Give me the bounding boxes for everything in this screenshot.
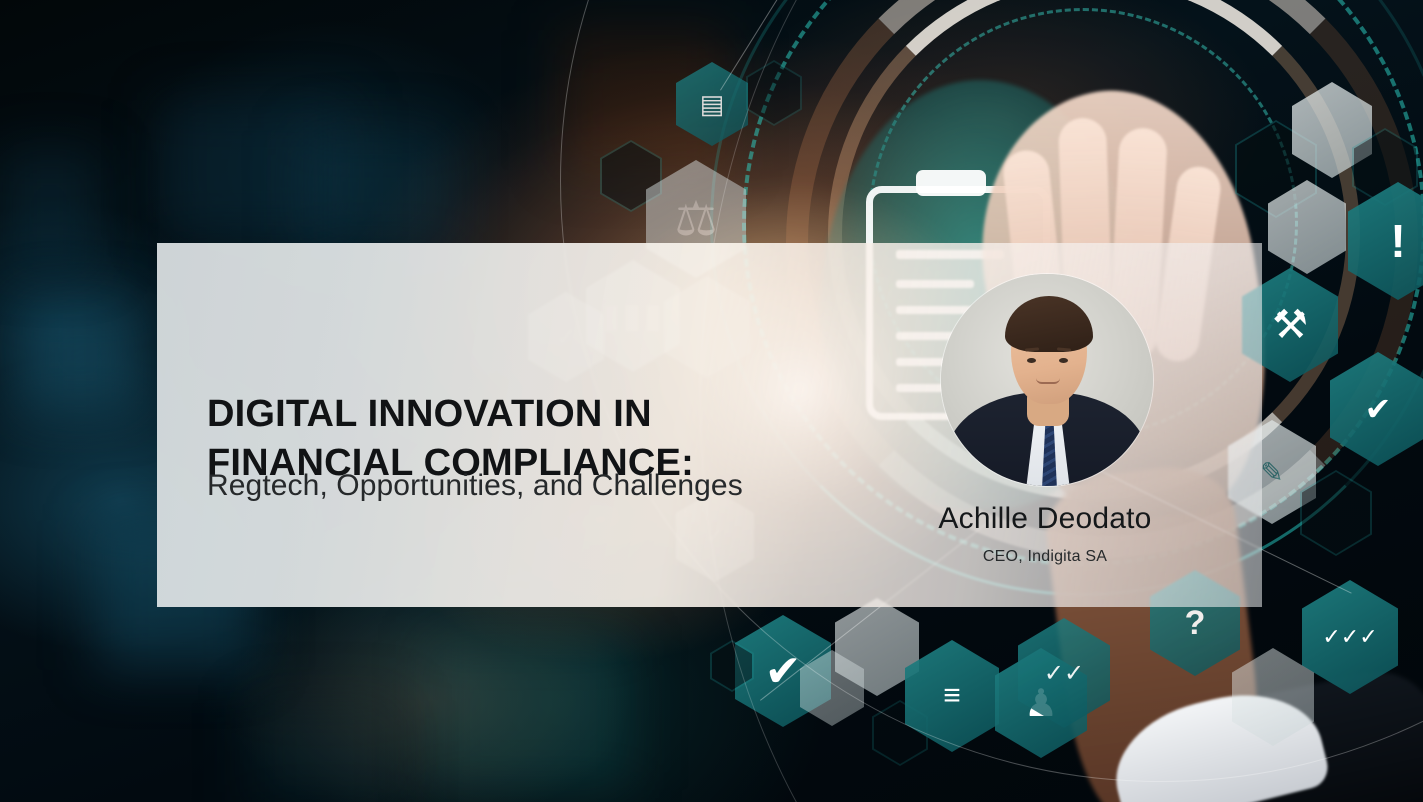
avatar-eye — [1059, 358, 1068, 363]
speaker-name: Achille Deodato — [760, 502, 1330, 536]
presentation-slide: ▤ ⚖ ▮▮▮ ✓ ✓ ✔ ≡ ♟ ✓✓ ! ⚒ ✔ ✎ — [0, 0, 1423, 802]
title-line-1: DIGITAL INNOVATION IN — [207, 393, 652, 435]
speaker-role: CEO, Indigita SA — [760, 548, 1330, 566]
avatar-mouth — [1036, 378, 1060, 384]
page-subtitle: Regtech, Opportunities, and Challenges — [207, 467, 907, 505]
speaker-avatar — [941, 274, 1153, 486]
avatar-eye — [1027, 358, 1036, 363]
